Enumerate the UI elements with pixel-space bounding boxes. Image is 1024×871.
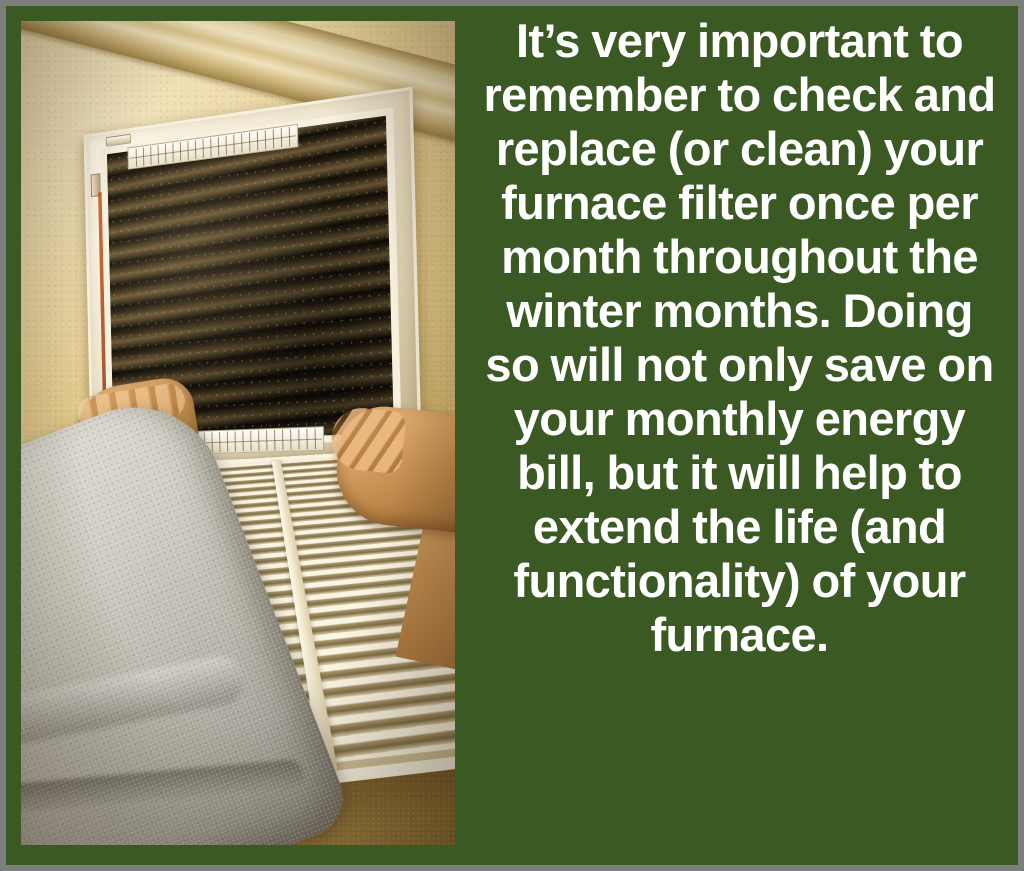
sleeve-fold <box>21 653 248 748</box>
right-hand-fingers <box>329 405 407 474</box>
caption-panel: It’s very important to remember to check… <box>461 6 1018 865</box>
sleeve-cuff <box>21 759 305 815</box>
furnace-filter-photo <box>21 21 455 845</box>
infographic-poster: It’s very important to remember to check… <box>6 6 1018 865</box>
caption-text: It’s very important to remember to check… <box>480 14 1000 662</box>
